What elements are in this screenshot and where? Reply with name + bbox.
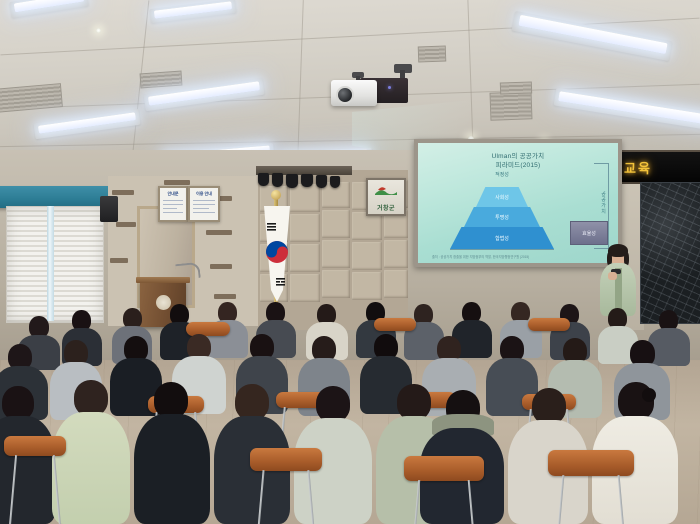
audience-member xyxy=(134,382,210,524)
recessed-downlight xyxy=(96,28,101,33)
wall-notice-frame: 안내문 xyxy=(158,186,188,222)
stage-light xyxy=(286,174,298,188)
geochang-county-emblem-sign: 거창군 xyxy=(366,178,406,216)
korean-national-flag xyxy=(262,206,292,302)
stage-light xyxy=(272,173,283,187)
led-banner-text: 교육 xyxy=(624,158,700,177)
projector-lens-icon xyxy=(336,86,354,104)
county-emblem-label: 거창군 xyxy=(368,203,404,212)
slide-footnote: 출처 : 공공가치 창출을 위한 지방정부의 역할, 한국지방행정연구원 (20… xyxy=(432,254,604,259)
projection-screen: Ulman의 공공가치 피라미드(2015) 적정성 사회성 투명성 합법성 효… xyxy=(418,143,618,263)
pyramid-tier-label: 합법성 xyxy=(495,235,509,242)
projector-status-led xyxy=(388,86,391,89)
wall-accent-stripe xyxy=(110,258,128,263)
pyramid-baseline xyxy=(450,249,554,250)
pyramid-tier: 투명성 xyxy=(464,207,540,227)
stage-light xyxy=(258,173,269,186)
pyramid-tier: 합법성 xyxy=(450,227,554,249)
slide-title: Ulman의 공공가치 피라미드(2015) xyxy=(418,152,618,170)
lecture-hall-photo: 안내문 이용 안내 xyxy=(0,0,700,524)
wall-accent-stripe xyxy=(164,180,190,185)
presenter-hand xyxy=(608,272,617,280)
public-value-pyramid-diagram: 적정성 사회성 투명성 합법성 xyxy=(436,173,568,251)
ceiling-air-vent xyxy=(490,91,533,120)
hair-bun xyxy=(642,388,656,402)
ceiling-air-vent xyxy=(418,46,447,63)
wall-accent-stripe xyxy=(214,294,236,299)
wall-speaker xyxy=(100,196,118,222)
pyramid-tier-label: 투명성 xyxy=(495,214,509,221)
podium-microphone xyxy=(175,262,201,280)
pyramid-tier: 사회성 xyxy=(476,187,528,207)
wall-accent-stripe xyxy=(112,190,134,195)
led-scrolling-banner: 교육 xyxy=(620,150,700,184)
window-valance xyxy=(0,186,108,208)
stage-light xyxy=(316,175,327,188)
stage-light xyxy=(330,176,340,188)
stage-light xyxy=(301,174,313,187)
county-emblem-icon xyxy=(374,183,398,194)
wall-accent-stripe xyxy=(116,222,136,227)
pyramid-tier-label: 사회성 xyxy=(495,194,509,201)
public-value-bracket-label: 공공 가치 xyxy=(600,191,607,215)
ceiling-air-vent xyxy=(500,81,532,94)
wall-accent-stripe xyxy=(206,230,232,235)
wall-accent-stripe xyxy=(210,264,232,269)
projection-screen-frame: Ulman의 공공가치 피라미드(2015) 적정성 사회성 투명성 합법성 효… xyxy=(414,139,622,267)
wall-notice-frame: 이용 안내 xyxy=(188,186,220,222)
ceiling-air-vent xyxy=(140,71,183,89)
pyramid-apex-label: 적정성 xyxy=(436,171,568,178)
flag-pole-finial-icon xyxy=(271,190,281,200)
